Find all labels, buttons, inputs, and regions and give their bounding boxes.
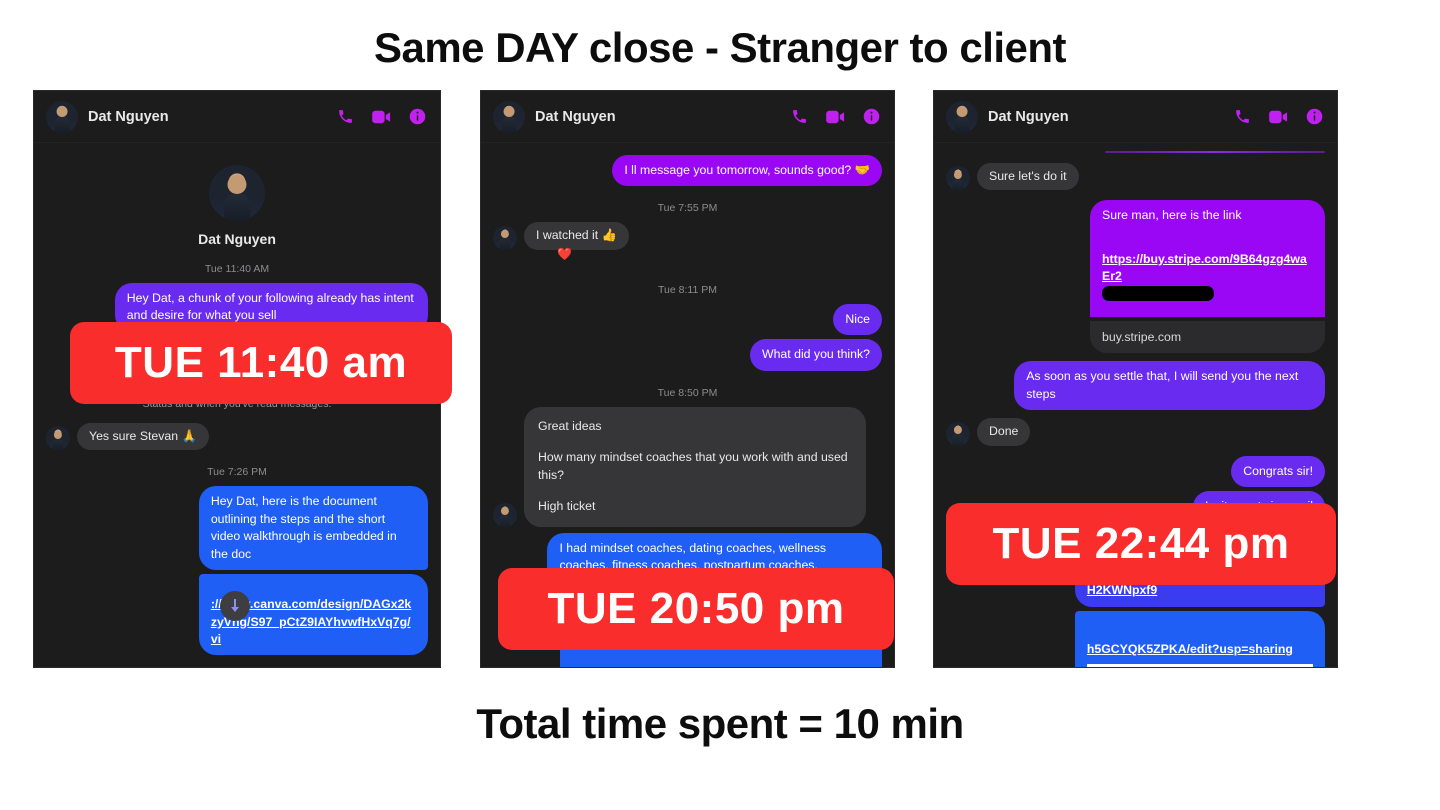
avatar (46, 101, 78, 133)
timestamp: Tue 8:50 PM (493, 387, 882, 399)
message-bubble[interactable]: Yes sure Stevan 🙏 (77, 423, 209, 450)
message-bubble[interactable]: Hey Dat, here is the document outlining … (199, 486, 428, 570)
chat-header-1: Dat Nguyen (34, 91, 440, 143)
message-line: High ticket (538, 498, 852, 515)
timestamp: Tue 7:26 PM (46, 466, 428, 478)
scroll-divider (1105, 151, 1325, 153)
message-row-incoming: Done (946, 418, 1325, 445)
message-row-incoming: Great ideas How many mindset coaches tha… (493, 407, 882, 527)
message-row-outgoing: Hey Dat, here is the document outlining … (46, 486, 428, 570)
avatar-large (209, 165, 265, 221)
phone-icon[interactable] (791, 108, 808, 125)
avatar (493, 503, 517, 527)
contact-name: Dat Nguyen (988, 109, 1069, 125)
message-line: Sure man, here is the link (1102, 207, 1313, 224)
conversation-intro: Dat Nguyen (46, 143, 428, 247)
video-camera-icon[interactable] (372, 110, 391, 124)
message-row-link-preview: buy.stripe.com (946, 321, 1325, 353)
video-camera-icon[interactable] (826, 110, 845, 124)
phone-icon[interactable] (337, 108, 354, 125)
document-preview[interactable] (1087, 664, 1313, 668)
page-footer-title: Total time spent = 10 min (0, 700, 1440, 748)
timestamp: Tue 8:11 PM (493, 284, 882, 296)
time-badge-1: TUE 11:40 am (70, 322, 452, 404)
chat-body-3[interactable]: Sure let's do it Sure man, here is the l… (934, 151, 1337, 668)
avatar (493, 101, 525, 133)
avatar (493, 226, 517, 250)
info-icon[interactable] (863, 108, 880, 125)
redaction-bar (1102, 286, 1214, 301)
intro-contact-name: Dat Nguyen (46, 231, 428, 247)
contact-name: Dat Nguyen (88, 109, 169, 125)
message-row-incoming: Sure let's do it (946, 163, 1325, 190)
stripe-link[interactable]: https://buy.stripe.com/9B64gzg4waEr2 (1102, 251, 1313, 286)
message-bubble[interactable]: Congrats sir! (1231, 456, 1325, 487)
message-bubble-group[interactable]: Great ideas How many mindset coaches tha… (524, 407, 866, 527)
time-badge-3: TUE 22:44 pm (946, 503, 1336, 585)
message-row-outgoing: Sure man, here is the link https://buy.s… (946, 200, 1325, 317)
time-badge-2: TUE 20:50 pm (498, 568, 894, 650)
message-row-outgoing: Nice (493, 304, 882, 335)
slide-canvas: Same DAY close - Stranger to client Dat … (0, 0, 1440, 810)
message-bubble[interactable]: Done (977, 418, 1030, 445)
header-actions (791, 108, 880, 125)
message-bubble[interactable]: I watched it 👍 (524, 222, 629, 249)
message-row-outgoing: Congrats sir! (946, 456, 1325, 487)
message-row-incoming: Yes sure Stevan 🙏 (46, 423, 428, 450)
header-actions (337, 108, 426, 125)
reaction-heart-icon[interactable]: ❤️ (557, 247, 572, 261)
video-camera-icon[interactable] (1269, 110, 1288, 124)
message-bubble[interactable]: What did you think? (750, 339, 882, 370)
link-preview-domain[interactable]: buy.stripe.com (1090, 321, 1325, 353)
message-bubble[interactable]: As soon as you settle that, I will send … (1014, 361, 1325, 410)
avatar (46, 426, 70, 450)
contact-name: Dat Nguyen (535, 109, 616, 125)
info-icon[interactable] (1306, 108, 1323, 125)
message-row-incoming: I watched it 👍 ❤️ (493, 222, 882, 249)
header-actions (1234, 108, 1323, 125)
page-title: Same DAY close - Stranger to client (0, 24, 1440, 72)
message-row-link: ://www.canva.com/design/DAGx2kzyVhg/S97_… (46, 574, 428, 655)
timestamp: Tue 7:55 PM (493, 202, 882, 214)
chat-header-2: Dat Nguyen (481, 91, 894, 143)
message-row-outgoing: I ll message you tomorrow, sounds good? … (493, 155, 882, 186)
message-bubble[interactable]: I ll message you tomorrow, sounds good? … (612, 155, 882, 186)
avatar (946, 101, 978, 133)
avatar (946, 166, 970, 190)
message-row-document: h5GCYQK5ZPKA/edit?usp=sharing (946, 611, 1325, 668)
message-row-outgoing: As soon as you settle that, I will send … (946, 361, 1325, 410)
chat-header-3: Dat Nguyen (934, 91, 1337, 143)
message-line: How many mindset coaches that you work w… (538, 449, 852, 484)
timestamp: Tue 11:40 AM (46, 263, 428, 275)
info-icon[interactable] (409, 108, 426, 125)
chat-body-1[interactable]: Dat Nguyen Tue 11:40 AM Hey Dat, a chunk… (34, 143, 440, 668)
phone-icon[interactable] (1234, 108, 1251, 125)
message-bubble-link[interactable]: Sure man, here is the link https://buy.s… (1090, 200, 1325, 317)
avatar (946, 422, 970, 446)
message-row-outgoing: What did you think? (493, 339, 882, 370)
doc-link[interactable]: h5GCYQK5ZPKA/edit?usp=sharing (1087, 641, 1293, 658)
message-bubble[interactable]: Sure let's do it (977, 163, 1079, 190)
message-line: Great ideas (538, 418, 852, 435)
message-bubble[interactable]: Nice (833, 304, 882, 335)
